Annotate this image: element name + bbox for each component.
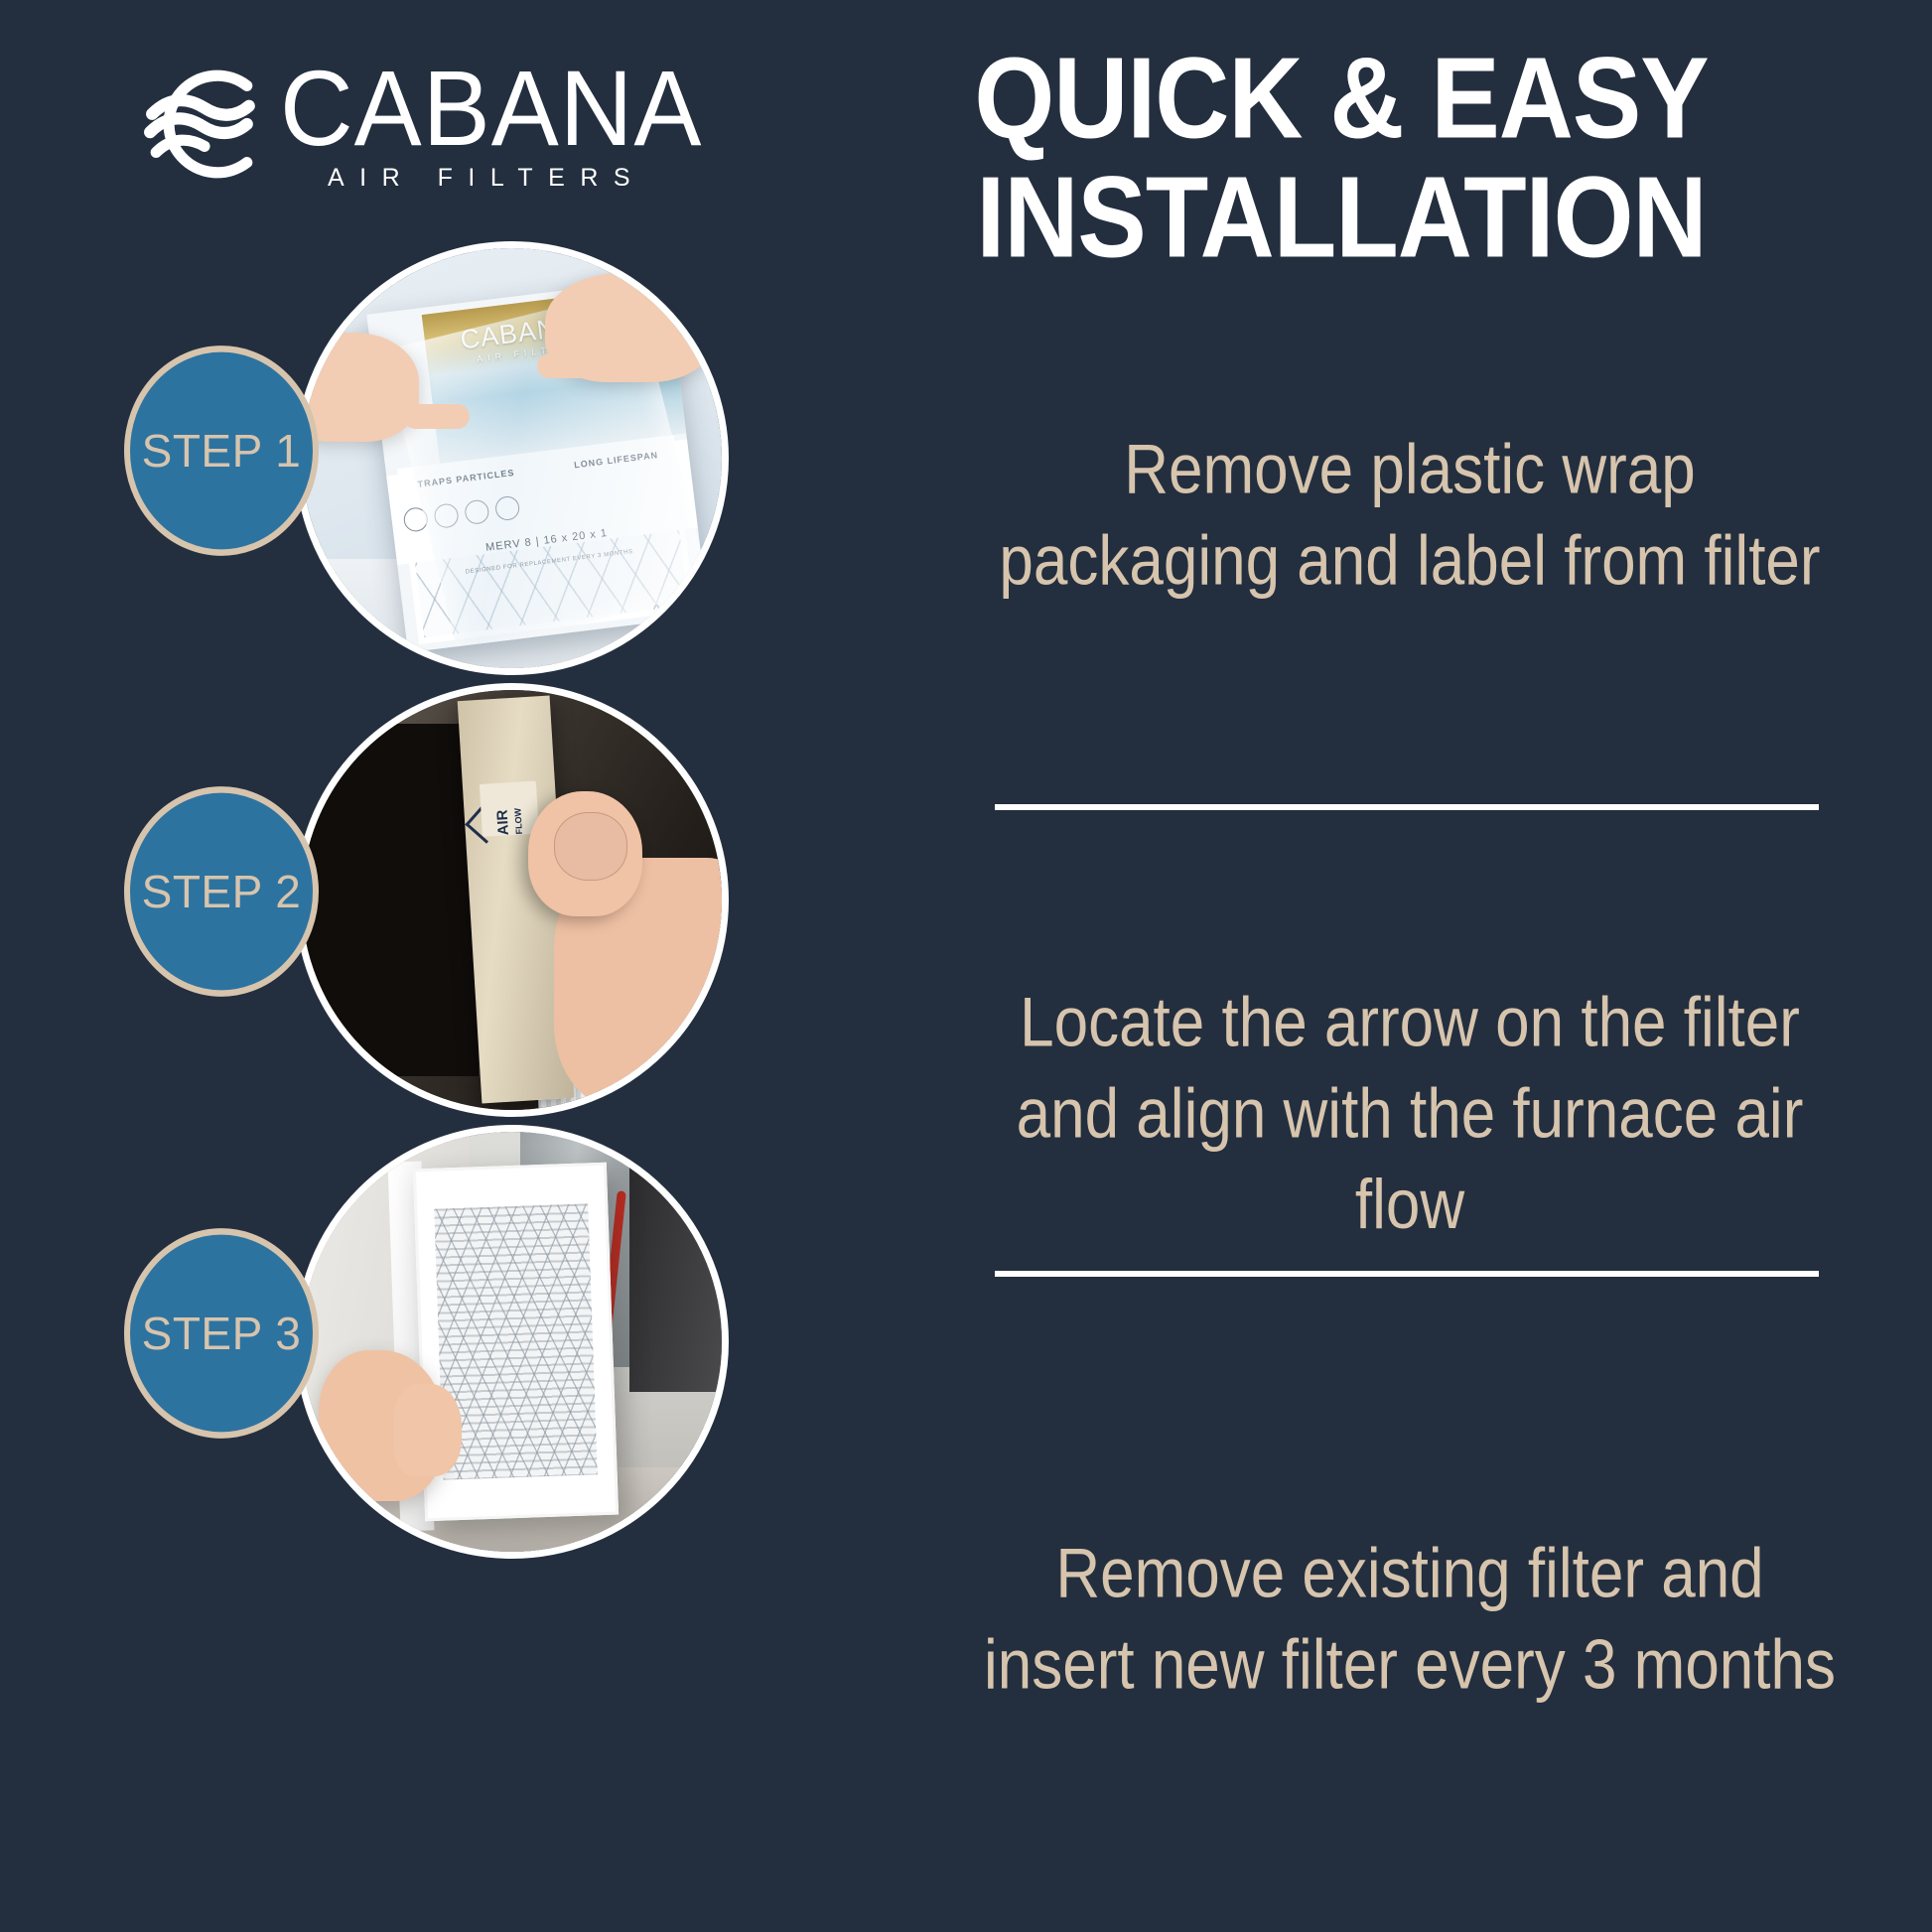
cabana-wave-logo-icon bbox=[139, 64, 266, 185]
divider-2 bbox=[995, 1271, 1819, 1277]
brand-logo: CABANA AIR FILTERS bbox=[139, 58, 702, 191]
step-1-text: Remove plastic wrap packaging and label … bbox=[983, 425, 1837, 608]
step-2-photo: AIR FLOW bbox=[295, 683, 729, 1117]
divider-1 bbox=[995, 804, 1819, 810]
step-2-text: Locate the arrow on the filter and align… bbox=[983, 978, 1837, 1252]
headline-line-1: QUICK & EASY bbox=[790, 40, 1892, 159]
thumb-nail bbox=[554, 812, 627, 882]
step-2-badge: STEP 2 bbox=[124, 786, 319, 997]
headline-line-2: INSTALLATION bbox=[790, 159, 1892, 278]
brand-wordmark: CABANA AIR FILTERS bbox=[280, 58, 702, 191]
brand-tagline: AIR FILTERS bbox=[328, 166, 702, 191]
air-flow-label: AIR FLOW bbox=[480, 781, 540, 837]
step-3-photo bbox=[295, 1125, 729, 1559]
step-1-photo: CABANA AIR FILTERS TRAPS PARTICLES LONG … bbox=[295, 241, 729, 675]
fingers bbox=[394, 1384, 462, 1476]
step-3-text: Remove existing filter and insert new fi… bbox=[983, 1529, 1837, 1712]
step-3-badge: STEP 3 bbox=[124, 1228, 319, 1439]
right-finger bbox=[537, 353, 592, 378]
infographic-page: CABANA AIR FILTERS QUICK & EASY INSTALLA… bbox=[0, 0, 1932, 1932]
step-1-badge: STEP 1 bbox=[124, 345, 319, 556]
left-finger bbox=[403, 404, 471, 429]
brand-name: CABANA bbox=[280, 58, 702, 160]
header: CABANA AIR FILTERS QUICK & EASY INSTALLA… bbox=[0, 0, 1932, 298]
page-title: QUICK & EASY INSTALLATION bbox=[790, 40, 1892, 278]
